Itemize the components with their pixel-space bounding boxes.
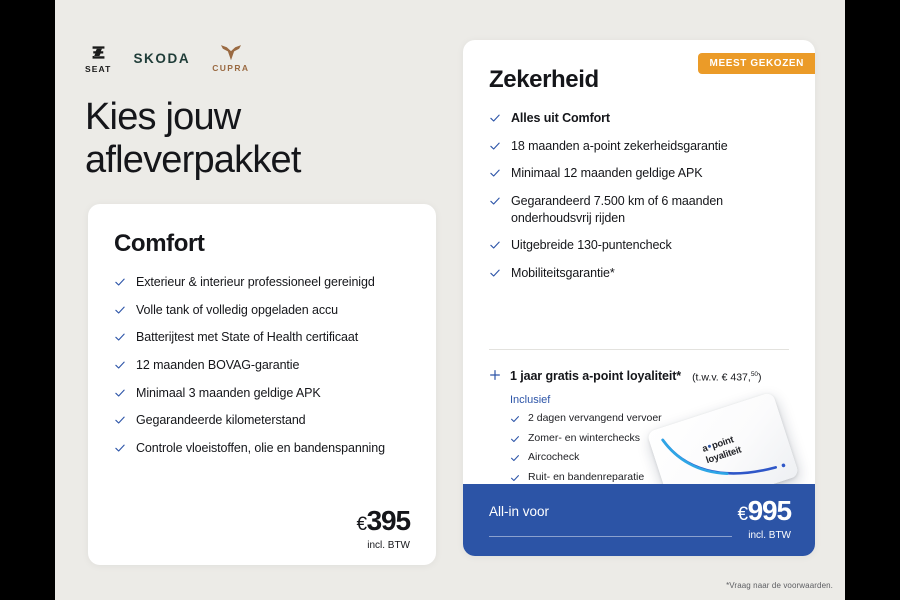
list-item-label: Minimaal 3 maanden geldige APK bbox=[136, 385, 321, 402]
check-icon bbox=[489, 195, 501, 207]
list-item-label: 12 maanden BOVAG-garantie bbox=[136, 357, 299, 374]
comfort-price-amount: €395 bbox=[357, 507, 411, 535]
allin-label: All-in voor bbox=[489, 504, 549, 519]
zekerheid-price-footer: All-in voor €995 incl. BTW bbox=[463, 484, 815, 556]
currency-symbol: € bbox=[357, 514, 367, 535]
list-item: Minimaal 12 maanden geldige APK bbox=[489, 165, 794, 182]
brand-logo-seat: SEAT bbox=[85, 43, 111, 74]
zekerheid-price-amount: €995 bbox=[738, 497, 792, 525]
brand-logo-cupra: CUPRA bbox=[212, 44, 249, 73]
list-item: Zomer- en winterchecks bbox=[510, 432, 799, 446]
comfort-price-block: €395 incl. BTW bbox=[357, 507, 411, 551]
list-item-label: 2 dagen vervangend vervoer bbox=[528, 412, 662, 426]
check-icon bbox=[510, 473, 520, 483]
comfort-card-title: Comfort bbox=[114, 230, 410, 258]
list-item: Minimaal 3 maanden geldige APK bbox=[114, 385, 410, 402]
zekerheid-price-note: incl. BTW bbox=[738, 530, 792, 541]
check-icon bbox=[114, 331, 126, 343]
plus-icon bbox=[489, 369, 501, 381]
list-item: Volle tank of volledig opgeladen accu bbox=[114, 302, 410, 319]
list-item: Exterieur & interieur professioneel gere… bbox=[114, 274, 410, 291]
comfort-feature-list: Exterieur & interieur professioneel gere… bbox=[114, 274, 410, 456]
check-icon bbox=[114, 414, 126, 426]
loyalty-value-suffix: ) bbox=[758, 371, 762, 383]
list-item: Alles uit Comfort bbox=[489, 110, 794, 127]
check-icon bbox=[489, 239, 501, 251]
list-item: Aircocheck bbox=[510, 451, 799, 465]
check-icon bbox=[489, 112, 501, 124]
list-item: Ruit- en bandenreparatie bbox=[510, 471, 799, 485]
package-card-zekerheid[interactable]: MEEST GEKOZEN Zekerheid Alles uit Comfor… bbox=[463, 40, 815, 556]
list-item: 12 maanden BOVAG-garantie bbox=[114, 357, 410, 374]
check-icon bbox=[510, 414, 520, 424]
check-icon bbox=[114, 387, 126, 399]
page-title-line1: Kies jouw bbox=[85, 96, 240, 138]
brand-label-seat: SEAT bbox=[85, 64, 111, 74]
list-item-label: Ruit- en bandenreparatie bbox=[528, 471, 644, 485]
brand-logo-row: SEAT SKODA CUPRA bbox=[85, 38, 249, 78]
list-item: 2 dagen vervangend vervoer bbox=[510, 412, 799, 426]
list-item-label: 18 maanden a-point zekerheidsgarantie bbox=[511, 138, 728, 155]
check-icon bbox=[114, 442, 126, 454]
cupra-logo-icon bbox=[220, 44, 242, 61]
footer-divider bbox=[489, 536, 732, 537]
zekerheid-price-value: 995 bbox=[748, 495, 791, 526]
comfort-price-value: 395 bbox=[367, 505, 410, 536]
list-item-label: Alles uit Comfort bbox=[511, 110, 610, 127]
check-icon bbox=[510, 434, 520, 444]
loyalty-section: 1 jaar gratis a-point loyaliteit* (t.w.v… bbox=[489, 368, 799, 491]
inclusief-label: Inclusief bbox=[510, 394, 799, 406]
page-title: Kies jouw afleverpakket bbox=[85, 96, 301, 181]
promo-content-area: SEAT SKODA CUPRA Kies jouw afleverpakket bbox=[55, 0, 845, 600]
check-icon bbox=[489, 267, 501, 279]
list-item-label: Volle tank of volledig opgeladen accu bbox=[136, 302, 338, 319]
list-item-label: Gegarandeerde kilometerstand bbox=[136, 412, 306, 429]
left-column: SEAT SKODA CUPRA Kies jouw afleverpakket bbox=[55, 0, 455, 600]
page-title-line2: afleverpakket bbox=[85, 139, 301, 181]
loyalty-value: (t.w.v. € 437,50) bbox=[692, 371, 761, 384]
list-item: Batterijtest met State of Health certifi… bbox=[114, 329, 410, 346]
list-item-label: Mobiliteitsgarantie* bbox=[511, 265, 615, 282]
list-item-label: Aircocheck bbox=[528, 451, 579, 465]
check-icon bbox=[114, 359, 126, 371]
inclusief-list: 2 dagen vervangend vervoer Zomer- en win… bbox=[510, 412, 799, 485]
brand-label-cupra: CUPRA bbox=[212, 63, 249, 73]
list-item-label: Controle vloeistoffen, olie en bandenspa… bbox=[136, 440, 385, 457]
seat-logo-icon bbox=[89, 43, 108, 62]
list-item: Uitgebreide 130-puntencheck bbox=[489, 237, 794, 254]
brand-label-skoda: SKODA bbox=[133, 51, 190, 66]
zekerheid-feature-list: Alles uit Comfort 18 maanden a-point zek… bbox=[489, 110, 794, 281]
footnote-text: *Vraag naar de voorwaarden. bbox=[726, 581, 833, 590]
loyalty-header-row: 1 jaar gratis a-point loyaliteit* (t.w.v… bbox=[489, 368, 799, 383]
list-item: Gegarandeerd 7.500 km of 6 maanden onder… bbox=[489, 193, 794, 226]
list-item-label: Gegarandeerd 7.500 km of 6 maanden onder… bbox=[511, 193, 794, 226]
list-item: 18 maanden a-point zekerheidsgarantie bbox=[489, 138, 794, 155]
check-icon bbox=[510, 453, 520, 463]
check-icon bbox=[114, 304, 126, 316]
section-divider bbox=[489, 349, 789, 350]
loyalty-value-cents: 50 bbox=[751, 371, 758, 378]
loyalty-value-prefix: (t.w.v. € 437, bbox=[692, 371, 751, 383]
zekerheid-card-title: Zekerheid bbox=[489, 66, 599, 94]
brand-logo-skoda: SKODA bbox=[133, 51, 190, 66]
comfort-price-note: incl. BTW bbox=[357, 540, 411, 551]
list-item: Mobiliteitsgarantie* bbox=[489, 265, 794, 282]
zekerheid-price-block: €995 incl. BTW bbox=[738, 497, 792, 541]
list-item-label: Zomer- en winterchecks bbox=[528, 432, 640, 446]
check-icon bbox=[114, 276, 126, 288]
package-card-comfort[interactable]: Comfort Exterieur & interieur profession… bbox=[88, 204, 436, 565]
list-item-label: Exterieur & interieur professioneel gere… bbox=[136, 274, 375, 291]
screenshot-stage: SEAT SKODA CUPRA Kies jouw afleverpakket bbox=[0, 0, 900, 600]
list-item: Controle vloeistoffen, olie en bandenspa… bbox=[114, 440, 410, 457]
list-item: Gegarandeerde kilometerstand bbox=[114, 412, 410, 429]
list-item-label: Minimaal 12 maanden geldige APK bbox=[511, 165, 702, 182]
check-icon bbox=[489, 167, 501, 179]
currency-symbol: € bbox=[738, 504, 748, 525]
list-item-label: Uitgebreide 130-puntencheck bbox=[511, 237, 672, 254]
loyalty-title: 1 jaar gratis a-point loyaliteit* bbox=[510, 369, 681, 383]
check-icon bbox=[489, 140, 501, 152]
list-item-label: Batterijtest met State of Health certifi… bbox=[136, 329, 358, 346]
status-badge-meest-gekozen: MEEST GEKOZEN bbox=[698, 53, 815, 74]
